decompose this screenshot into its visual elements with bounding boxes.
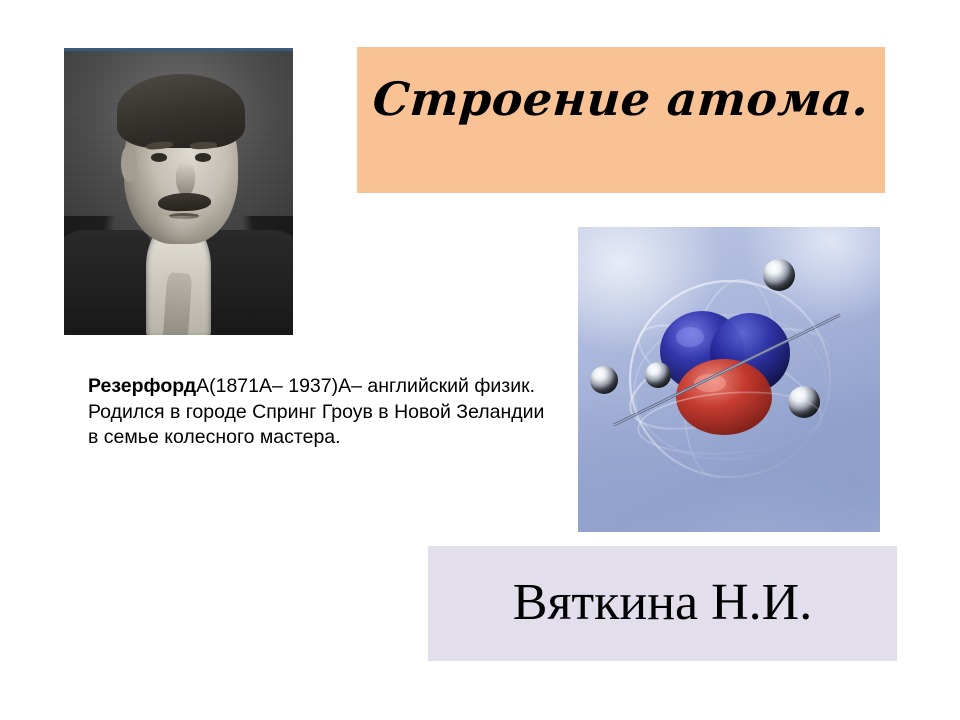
author-banner: Вяткина Н.И.	[428, 546, 897, 661]
atom-nucleus	[660, 311, 790, 435]
rutherford-portrait-image	[64, 48, 293, 335]
scientist-name: Резерфорд	[88, 375, 196, 397]
portrait-tie	[162, 272, 192, 335]
title-banner: Строение атома.	[357, 47, 885, 193]
portrait-nose	[176, 162, 194, 196]
slide-canvas: Строение атома. РезерфордА(1871А– 1937)А…	[0, 0, 960, 720]
author-name: Вяткина Н.И.	[513, 576, 812, 631]
page-title: Строение атома.	[371, 75, 870, 123]
atom-model-image	[578, 227, 880, 532]
portrait-ear	[121, 145, 137, 182]
portrait-hair	[117, 74, 245, 148]
portrait-chin	[156, 216, 206, 244]
atom-diagram	[578, 227, 880, 532]
portrait-eye-right	[195, 153, 211, 162]
portrait-eye-left	[151, 153, 167, 162]
biography-paragraph: РезерфордА(1871А– 1937)А– английский физ…	[88, 374, 558, 451]
